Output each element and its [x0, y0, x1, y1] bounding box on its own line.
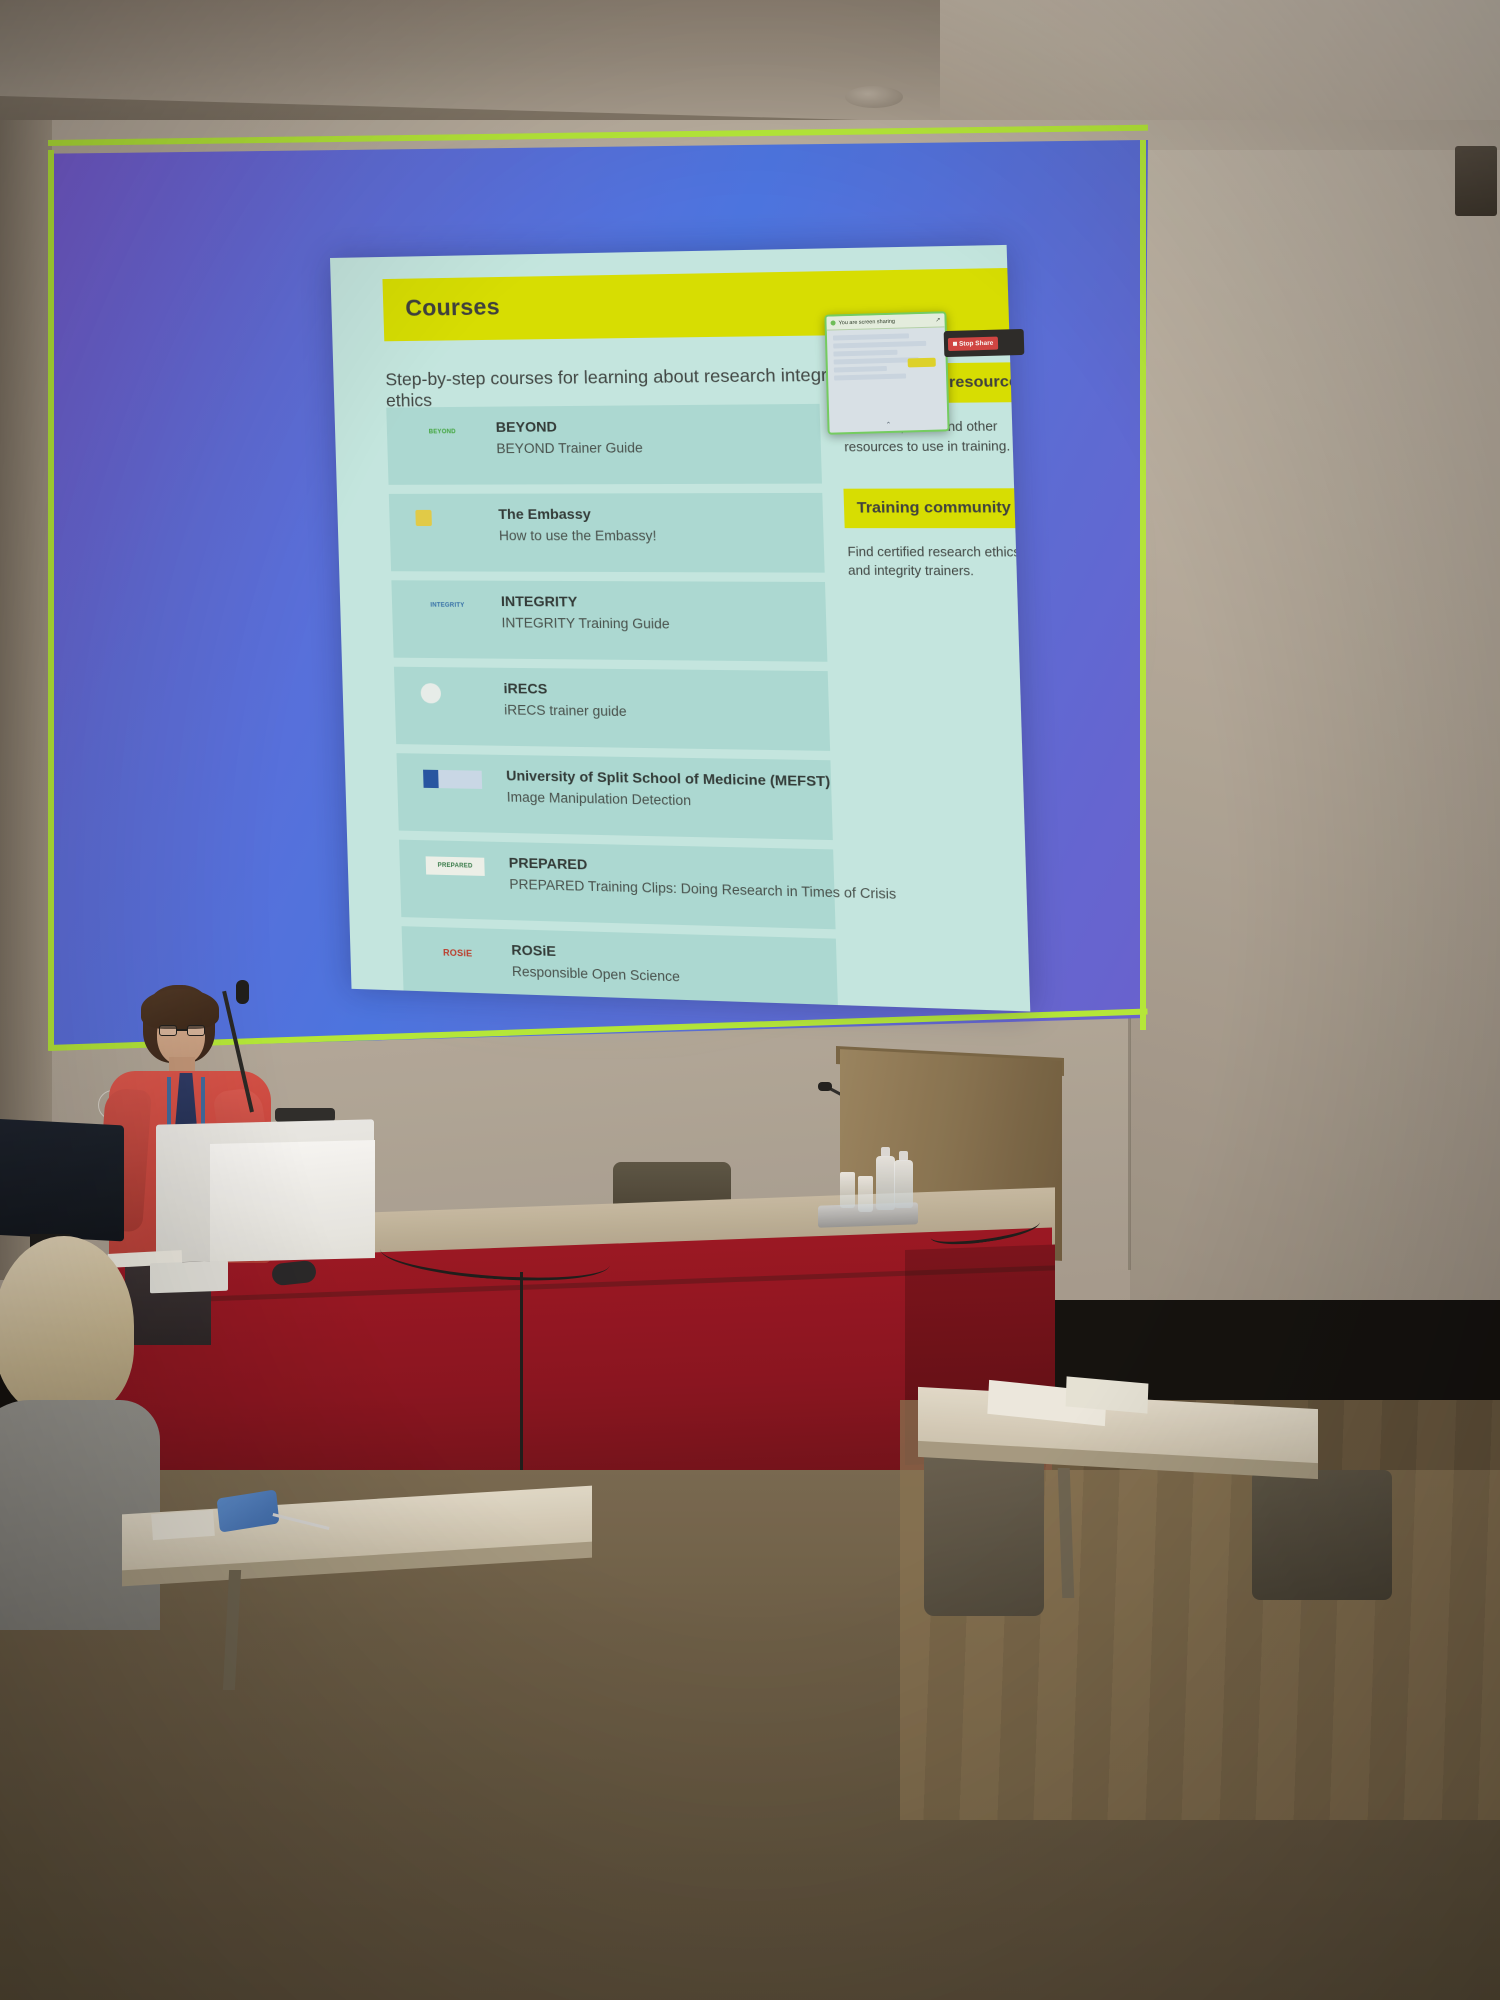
collapse-icon[interactable]: ⌃ [885, 421, 891, 429]
beyond-logo-icon: BEYOND [413, 423, 472, 442]
glasses-lens [159, 1025, 177, 1036]
thumb-line [834, 357, 919, 364]
screen-sharing-overlay[interactable]: You are screen sharing ↗ ⌃ [824, 311, 949, 434]
stop-share-button[interactable]: Stop Share [948, 336, 999, 350]
projection-screen: e Courses Step-by-step courses for learn… [48, 140, 1148, 1050]
thumb-line [833, 350, 897, 357]
audience-chair-far-right [1252, 1470, 1392, 1600]
glasses-bridge [177, 1029, 187, 1031]
water-glass [858, 1176, 873, 1212]
list-item[interactable]: BEYOND BEYOND BEYOND Trainer Guide [386, 404, 822, 485]
list-item[interactable]: University of Split School of Medicine (… [396, 753, 832, 840]
course-subtitle: How to use the Embassy! [499, 527, 814, 546]
green-dot-icon [831, 320, 836, 325]
training-community-heading: Training community [843, 488, 1030, 528]
course-subtitle: INTEGRITY Training Guide [501, 614, 816, 635]
water-glass [840, 1172, 855, 1208]
lecture-hall-scene: e Courses Step-by-step courses for learn… [0, 0, 1500, 2000]
presenter-glasses-icon [159, 1025, 205, 1036]
thumb-line [834, 366, 887, 372]
stage-monitor [0, 1119, 124, 1242]
stage-white-device [150, 1261, 228, 1294]
stage-equipment-box-inner [210, 1140, 375, 1262]
presenter-microphone-icon [236, 980, 249, 1004]
audience-chair-right [924, 1436, 1044, 1616]
course-name: The Embassy [498, 505, 812, 523]
thumb-line [834, 373, 906, 380]
list-item[interactable]: INTEGRITY INTEGRITY INTEGRITY Training G… [391, 580, 827, 661]
stop-share-label: Stop Share [959, 339, 993, 347]
list-item[interactable]: iRECS iRECS trainer guide [394, 667, 830, 751]
side-heading-label: Training community [857, 498, 1012, 516]
thumb-line [833, 341, 926, 349]
thumb-line [833, 333, 909, 340]
course-list: BEYOND BEYOND BEYOND Trainer Guide The E… [386, 404, 841, 1012]
course-name: BEYOND [496, 416, 810, 436]
lectern-microphone-icon [818, 1082, 832, 1091]
audience-notebook [151, 1510, 215, 1540]
irecs-logo-icon [420, 683, 441, 703]
mefst-logo-icon [423, 770, 482, 789]
thumb-highlight-button [908, 358, 936, 368]
expand-icon[interactable]: ↗ [935, 316, 940, 323]
presenter-hair-front [141, 989, 219, 1029]
wall-speaker [1455, 146, 1497, 216]
right-wall [1130, 150, 1500, 1300]
course-subtitle: PREPARED Training Clips: Doing Research … [509, 875, 824, 902]
course-subtitle: iRECS trainer guide [504, 701, 819, 724]
list-item[interactable]: PREPARED PREPARED PREPARED Training Clip… [399, 840, 836, 930]
list-item[interactable]: The Embassy How to use the Embassy! [389, 493, 825, 573]
rosie-logo-icon: ROSiE [428, 943, 487, 963]
screen-edge-left [48, 150, 54, 1050]
course-name: INTEGRITY [501, 593, 816, 613]
course-name: University of Split School of Medicine (… [506, 767, 821, 791]
course-name: iRECS [503, 680, 818, 702]
integrity-logo-icon: INTEGRITY [418, 596, 477, 614]
water-bottle [876, 1156, 895, 1210]
training-community-body: Find certified research ethics and integ… [845, 542, 1030, 582]
ceiling-vent-icon [845, 86, 903, 108]
embassy-logo-icon [415, 510, 432, 526]
course-subtitle: Image Manipulation Detection [507, 788, 822, 813]
page-title: Courses [405, 293, 500, 322]
prepared-logo-icon: PREPARED [426, 856, 485, 876]
stop-share-toolbar[interactable]: Stop Share [944, 329, 1025, 357]
audience-member-head [0, 1232, 122, 1360]
screen-edge-right [1140, 140, 1146, 1030]
stop-square-icon [953, 342, 957, 346]
shared-window-thumbnail [827, 327, 947, 388]
course-subtitle: BEYOND Trainer Guide [496, 438, 810, 458]
sharing-status-label: You are screen sharing [838, 318, 895, 326]
water-bottle [894, 1160, 913, 1208]
glasses-lens [187, 1025, 205, 1036]
